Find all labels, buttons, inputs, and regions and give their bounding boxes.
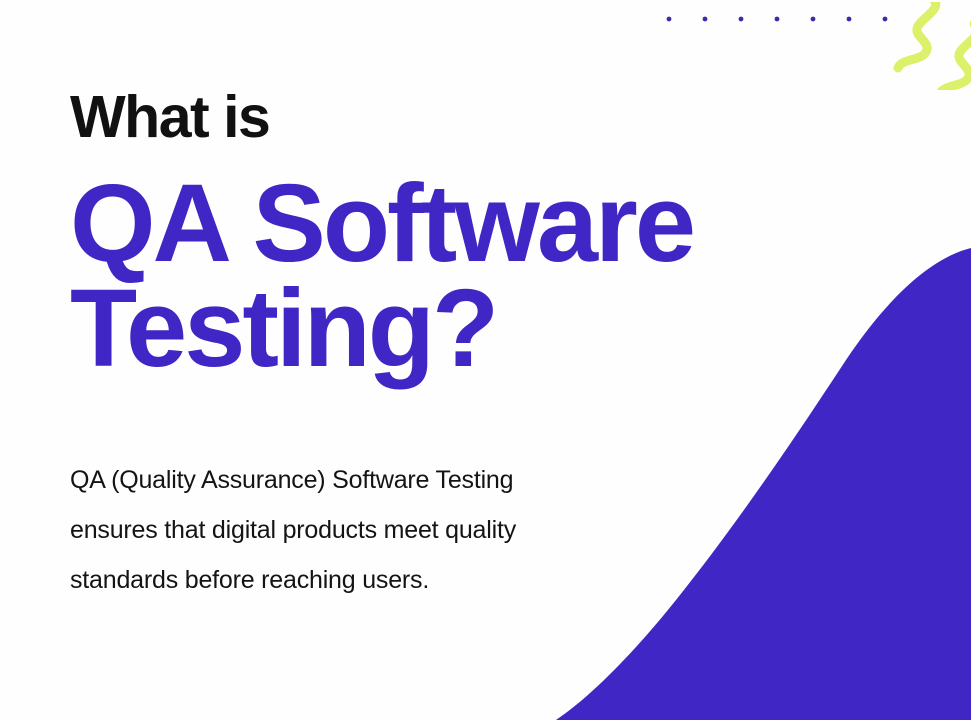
eyebrow-heading: What is	[70, 88, 269, 147]
lime-squiggle-icon	[888, 2, 971, 90]
slide-canvas: What is QA Software Testing? QA (Quality…	[0, 0, 971, 720]
body-paragraph: QA (Quality Assurance) Software Testing …	[70, 455, 750, 605]
body-line-3: standards before reaching users.	[70, 555, 750, 605]
headline-line-1: QA Software	[70, 172, 870, 277]
content-block: What is QA Software Testing? QA (Quality…	[70, 0, 870, 720]
main-headline: QA Software Testing?	[70, 172, 870, 381]
headline-line-2: Testing?	[70, 277, 870, 382]
body-line-1: QA (Quality Assurance) Software Testing	[70, 455, 750, 505]
body-line-2: ensures that digital products meet quali…	[70, 505, 750, 555]
